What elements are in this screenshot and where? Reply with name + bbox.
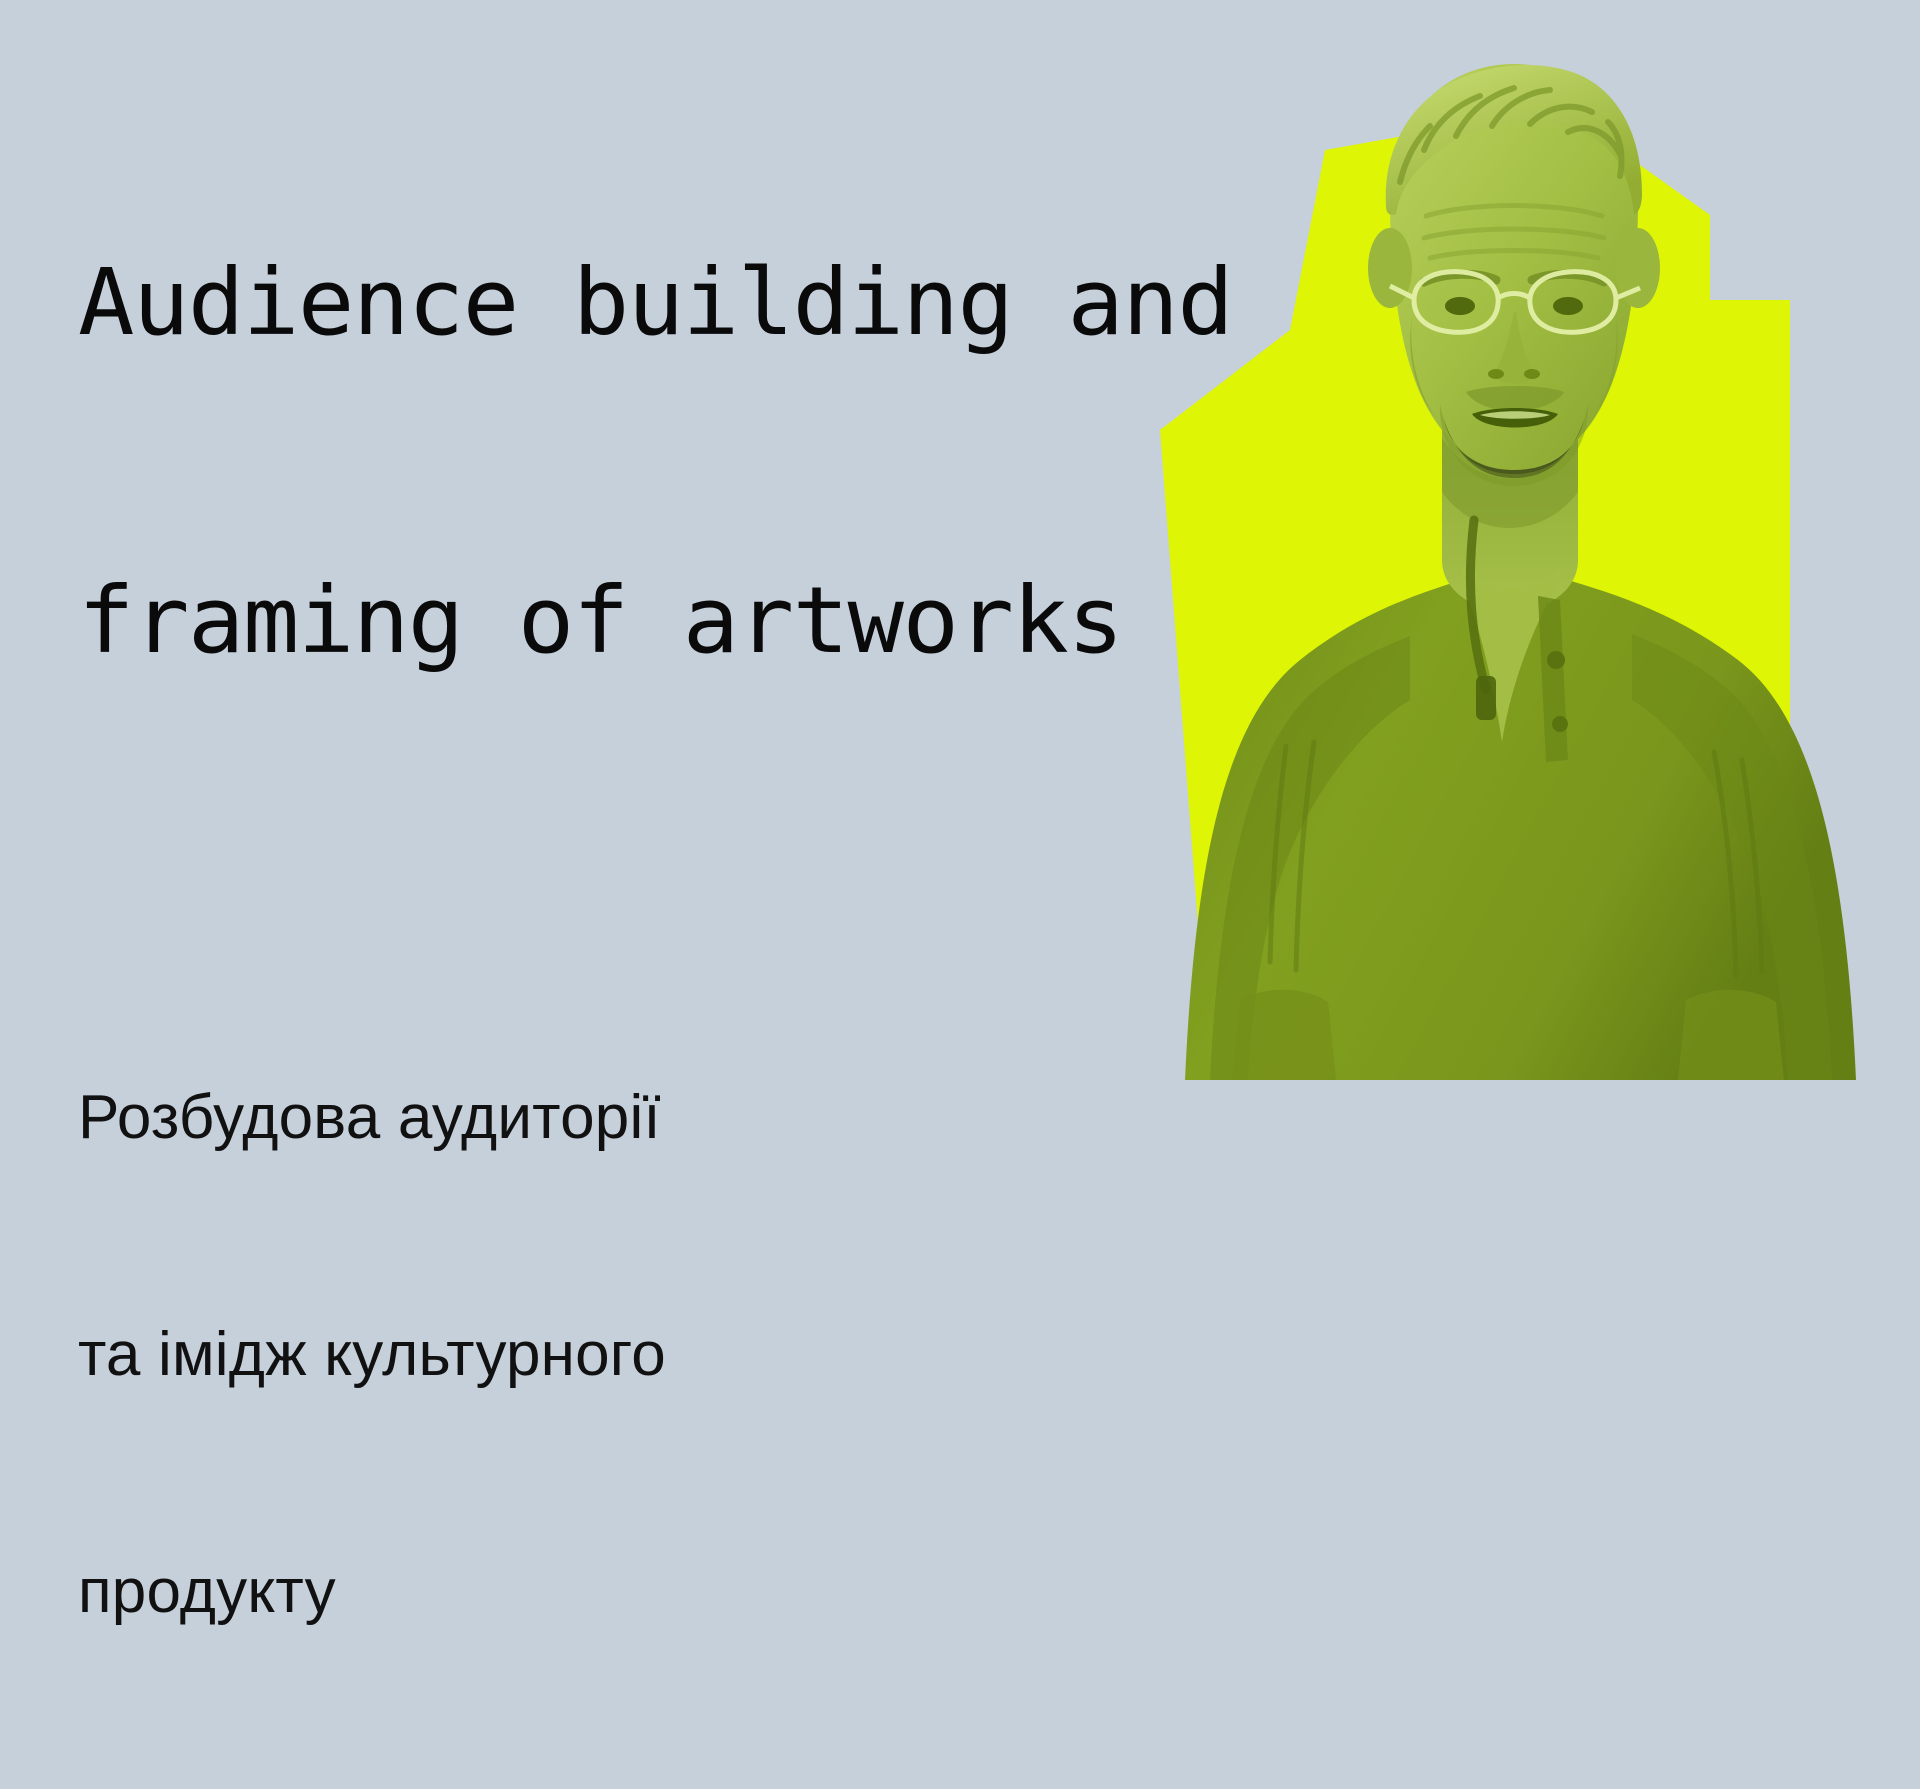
subtitle-line-1: Розбудова аудиторії [78, 1078, 1258, 1157]
subtitle-line-3: продукту [78, 1552, 1258, 1631]
subtitle-line-2: та імідж культурного [78, 1315, 1258, 1394]
slide-canvas: Audience building and framing of artwork… [0, 0, 1920, 1080]
slide-text-block: Audience building and framing of artwork… [78, 38, 1258, 1789]
speaker-portrait [1090, 0, 1920, 1080]
page-subtitle: Розбудова аудиторії та імідж культурного… [78, 920, 1258, 1789]
